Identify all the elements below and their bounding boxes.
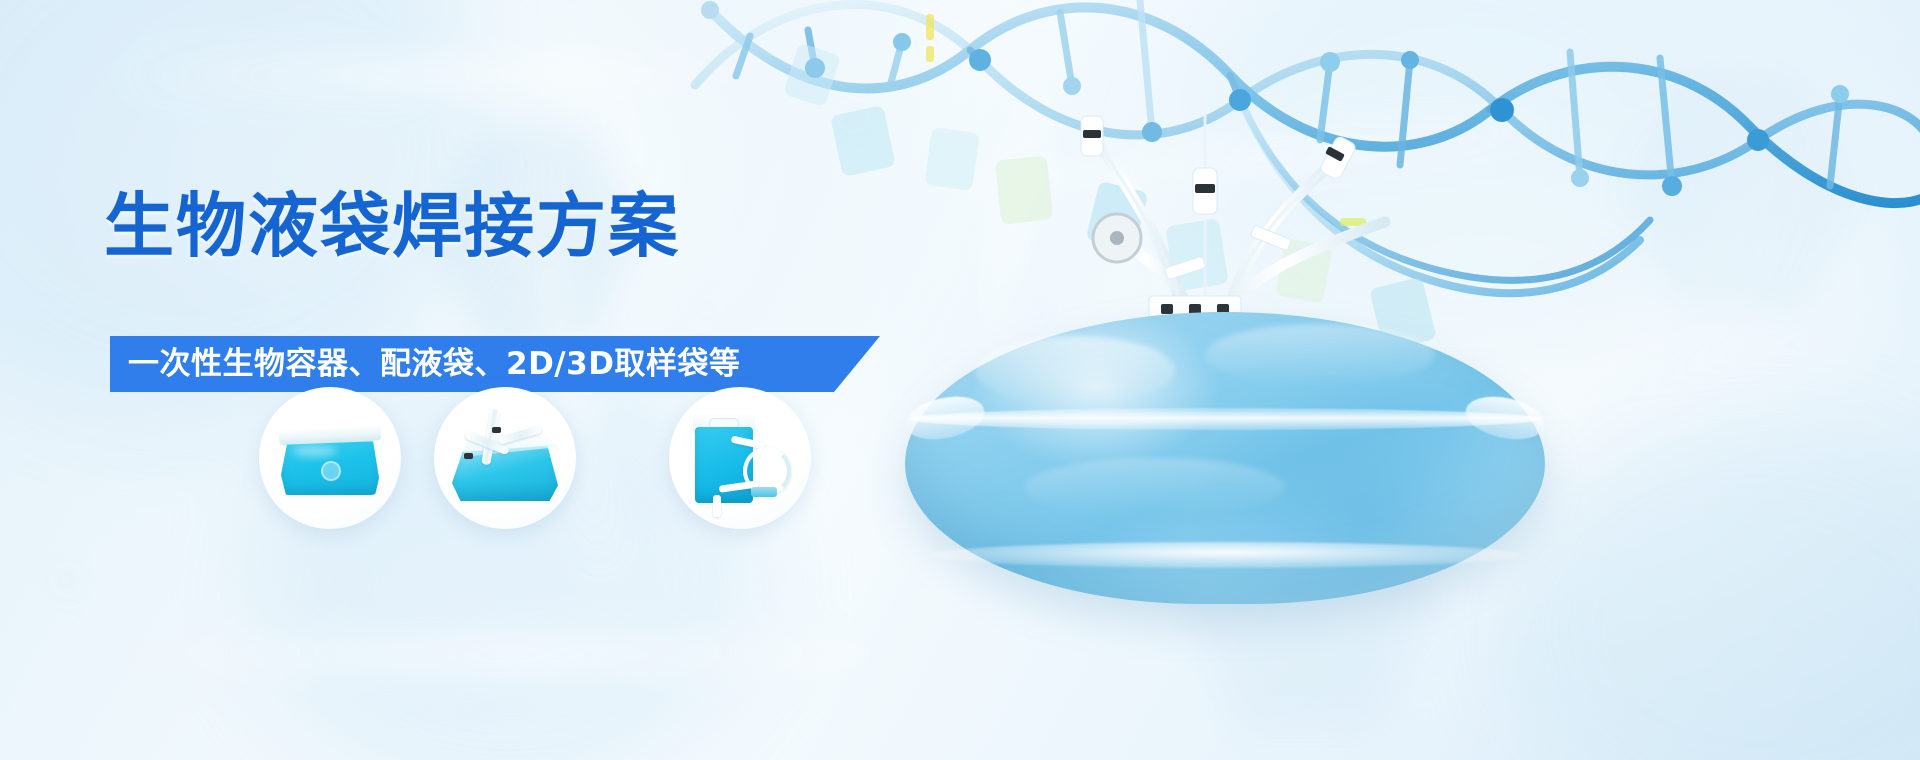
product-banner: 生物液袋焊接方案 一次性生物容器、配液袋、2D/3D取样袋等 [0,0,1920,760]
tubing-manifold-graphic [1055,72,1525,322]
page-title: 生物液袋焊接方案 [104,186,680,266]
bioreactor-bag-graphic [905,290,1545,620]
product-thumb-liquid-pouch[interactable] [259,387,401,529]
subtitle-text: 一次性生物容器、配液袋、2D/3D取样袋等 [128,336,740,392]
product-thumb-sampling-bag[interactable] [669,387,811,529]
product-thumb-cube-bag[interactable] [434,387,576,529]
cube-liquid-bag-icon [434,387,576,529]
subtitle-bar: 一次性生物容器、配液袋、2D/3D取样袋等 [110,336,880,392]
liquid-pouch-bag-icon [259,387,401,529]
sampling-bag-with-tubing-icon [669,387,811,529]
